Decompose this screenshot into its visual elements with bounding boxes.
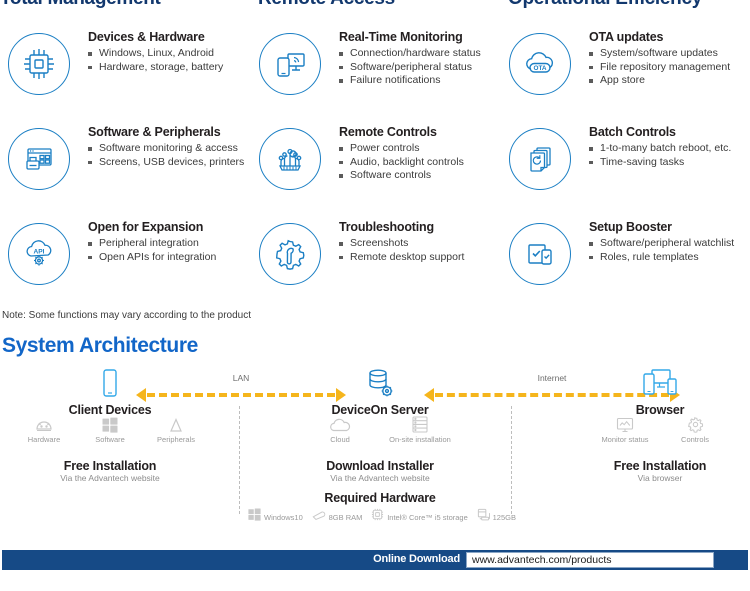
browser-install-subtitle: Via browser — [590, 473, 730, 483]
architecture-diagram: LAN Internet Client Devices — [0, 360, 750, 535]
feature-bullets: Software/peripheral watchlist Roles, rul… — [589, 237, 750, 264]
software-peripherals-icon — [8, 128, 70, 190]
cloud-icon — [300, 413, 380, 433]
section-divider — [511, 406, 512, 514]
svg-text:OTA: OTA — [533, 65, 546, 72]
feature-title: Real-Time Monitoring — [339, 30, 505, 44]
feature-row: Devices & Hardware Windows, Linux, Andro… — [0, 30, 750, 125]
feature-bullet: Roles, rule templates — [589, 251, 750, 265]
database-gear-icon — [300, 366, 460, 400]
feature-bullets: 1-to-many batch reboot, etc. Time-saving… — [589, 142, 750, 169]
feature-row: API Open for Expansion Peripheral integr… — [0, 220, 750, 315]
chip-icon — [8, 33, 70, 95]
feature-text: Setup Booster Software/peripheral watchl… — [589, 220, 750, 264]
feature-card-devices-hardware: Devices & Hardware Windows, Linux, Andro… — [0, 30, 250, 125]
feature-card-software-peripherals: Software & Peripherals Software monitori… — [0, 125, 250, 220]
feature-card-ota-updates: OTA OTA updates System/software updates … — [501, 30, 750, 125]
browser-sub-items: Monitor status Controls — [590, 413, 730, 444]
sub-item: Hardware — [11, 413, 77, 444]
feature-bullet: Audio, backlight controls — [339, 156, 505, 170]
column-header-operational-efficiency: Operational Efficiency — [508, 0, 702, 10]
section-divider — [239, 406, 240, 514]
feature-bullet: Peripheral integration — [88, 237, 254, 251]
requirement-label: Intel® Core™ i5 storage — [387, 513, 468, 522]
sub-item: Controls — [660, 413, 730, 444]
feature-bullet: Failure notifications — [339, 74, 505, 88]
download-url-text: www.advantech.com/products — [467, 553, 713, 566]
requirement-item: Intel® Core™ i5 storage — [371, 508, 468, 526]
sub-item: Software — [77, 413, 143, 444]
feature-card-batch-controls: Batch Controls 1-to-many batch reboot, e… — [501, 125, 750, 220]
feature-row: Software & Peripherals Software monitori… — [0, 125, 750, 220]
sub-item-label: Software — [77, 435, 143, 444]
windows-icon — [248, 508, 261, 526]
feature-bullet: App store — [589, 74, 750, 88]
server-installer-subtitle: Via the Advantech website — [290, 473, 470, 483]
online-download-label: Online Download — [373, 553, 460, 565]
server-installer-title: Download Installer — [290, 459, 470, 473]
footer-bar: Online Download www.advantech.com/produc… — [2, 550, 748, 570]
feature-text: Open for Expansion Peripheral integratio… — [88, 220, 254, 264]
sub-item: Monitor status — [590, 413, 660, 444]
node-client-devices: Client Devices — [40, 366, 180, 417]
sub-item: Cloud — [300, 413, 380, 444]
feature-bullets: Power controls Audio, backlight controls… — [339, 142, 505, 183]
feature-bullets: Peripheral integration Open APIs for int… — [88, 237, 254, 264]
requirement-item: 125GB — [477, 508, 516, 526]
controls-gear-icon — [660, 413, 730, 433]
browser-install-title: Free Installation — [590, 459, 730, 473]
tablet-icon — [40, 366, 180, 400]
feature-card-setup-booster: Setup Booster Software/peripheral watchl… — [501, 220, 750, 315]
requirement-label: 8GB RAM — [329, 513, 363, 522]
requirement-item: Windows10 — [248, 508, 303, 526]
feature-text: Software & Peripherals Software monitori… — [88, 125, 254, 169]
feature-bullet: Open APIs for integration — [88, 251, 254, 265]
sub-item-label: Cloud — [300, 435, 380, 444]
feature-title: OTA updates — [589, 30, 750, 44]
feature-title: Open for Expansion — [88, 220, 254, 234]
feature-bullet: File repository management — [589, 61, 750, 75]
feature-bullet: Software/peripheral watchlist — [589, 237, 750, 251]
windows-icon — [77, 413, 143, 433]
required-hardware-list: Windows10 8GB RAM Intel® — [248, 508, 516, 526]
column-headers: Total Management Remote Access Operation… — [0, 0, 750, 14]
requirement-item: 8GB RAM — [312, 508, 363, 526]
ram-icon — [312, 508, 326, 526]
requirement-label: Windows10 — [264, 513, 303, 522]
monitor-status-icon — [590, 413, 660, 433]
android-icon — [11, 413, 77, 433]
feature-bullet: Time-saving tasks — [589, 156, 750, 170]
column-header-total-management: Total Management — [0, 0, 161, 10]
required-hardware-title: Required Hardware — [290, 491, 470, 505]
feature-card-real-time-monitoring: Real-Time Monitoring Connection/hardware… — [251, 30, 501, 125]
sub-item: Peripherals — [143, 413, 209, 444]
svg-text:API: API — [34, 249, 45, 256]
feature-title: Software & Peripherals — [88, 125, 254, 139]
column-header-remote-access: Remote Access — [258, 0, 395, 10]
sub-item-label: Monitor status — [590, 435, 660, 444]
remote-controls-icon — [259, 128, 321, 190]
feature-bullet: Software controls — [339, 169, 505, 183]
sub-item-label: Peripherals — [143, 435, 209, 444]
cpu-icon — [371, 508, 384, 526]
feature-text: Troubleshooting Screenshots Remote deskt… — [339, 220, 505, 264]
feature-title: Batch Controls — [589, 125, 750, 139]
peripherals-icon — [143, 413, 209, 433]
sub-item: On-site installation — [380, 413, 460, 444]
feature-bullet: Software/peripheral status — [339, 61, 505, 75]
feature-bullets: Screenshots Remote desktop support — [339, 237, 505, 264]
feature-bullet: Windows, Linux, Android — [88, 47, 254, 61]
requirement-label: 125GB — [493, 513, 516, 522]
node-deviceon-server: DeviceOn Server — [300, 366, 460, 417]
feature-bullet: Hardware, storage, battery — [88, 61, 254, 75]
feature-title: Remote Controls — [339, 125, 505, 139]
multi-device-icon — [590, 366, 730, 400]
hdd-icon — [477, 508, 490, 526]
feature-title: Setup Booster — [589, 220, 750, 234]
realtime-monitor-icon — [259, 33, 321, 95]
troubleshooting-gear-icon — [259, 223, 321, 285]
feature-text: Remote Controls Power controls Audio, ba… — [339, 125, 505, 183]
feature-bullet: Connection/hardware status — [339, 47, 505, 61]
feature-text: Devices & Hardware Windows, Linux, Andro… — [88, 30, 254, 74]
datasheet-page: Total Management Remote Access Operation… — [0, 0, 750, 591]
feature-bullet: Remote desktop support — [339, 251, 505, 265]
server-rack-icon — [380, 413, 460, 433]
download-url-field[interactable]: www.advantech.com/products — [466, 552, 714, 568]
system-architecture-title: System Architecture — [2, 334, 198, 358]
server-sub-items: Cloud On-site installation — [300, 413, 460, 444]
feature-bullet: System/software updates — [589, 47, 750, 61]
feature-text: Batch Controls 1-to-many batch reboot, e… — [589, 125, 750, 169]
sub-item-label: On-site installation — [380, 435, 460, 444]
feature-bullet: Software monitoring & access — [88, 142, 254, 156]
feature-card-open-for-expansion: API Open for Expansion Peripheral integr… — [0, 220, 250, 315]
feature-bullets: System/software updates File repository … — [589, 47, 750, 88]
footnote: Note: Some functions may vary according … — [2, 310, 251, 321]
feature-bullets: Windows, Linux, Android Hardware, storag… — [88, 47, 254, 74]
client-install-subtitle: Via the Advantech website — [30, 473, 190, 483]
feature-text: OTA updates System/software updates File… — [589, 30, 750, 88]
sub-item-label: Controls — [660, 435, 730, 444]
api-cloud-icon: API — [8, 223, 70, 285]
feature-bullet: 1-to-many batch reboot, etc. — [589, 142, 750, 156]
feature-card-remote-controls: Remote Controls Power controls Audio, ba… — [251, 125, 501, 220]
feature-grid: Devices & Hardware Windows, Linux, Andro… — [0, 30, 750, 315]
feature-title: Devices & Hardware — [88, 30, 254, 44]
node-browser: Browser — [590, 366, 730, 417]
ota-cloud-icon: OTA — [509, 33, 571, 95]
feature-bullets: Software monitoring & access Screens, US… — [88, 142, 254, 169]
feature-bullet: Screenshots — [339, 237, 505, 251]
feature-bullet: Screens, USB devices, printers — [88, 156, 254, 170]
batch-controls-icon — [509, 128, 571, 190]
feature-card-troubleshooting: Troubleshooting Screenshots Remote deskt… — [251, 220, 501, 315]
feature-text: Real-Time Monitoring Connection/hardware… — [339, 30, 505, 88]
sub-item-label: Hardware — [11, 435, 77, 444]
feature-bullet: Power controls — [339, 142, 505, 156]
client-sub-items: Hardware Software — [10, 413, 210, 444]
setup-booster-icon — [509, 223, 571, 285]
feature-title: Troubleshooting — [339, 220, 505, 234]
feature-bullets: Connection/hardware status Software/peri… — [339, 47, 505, 88]
client-install-title: Free Installation — [30, 459, 190, 473]
